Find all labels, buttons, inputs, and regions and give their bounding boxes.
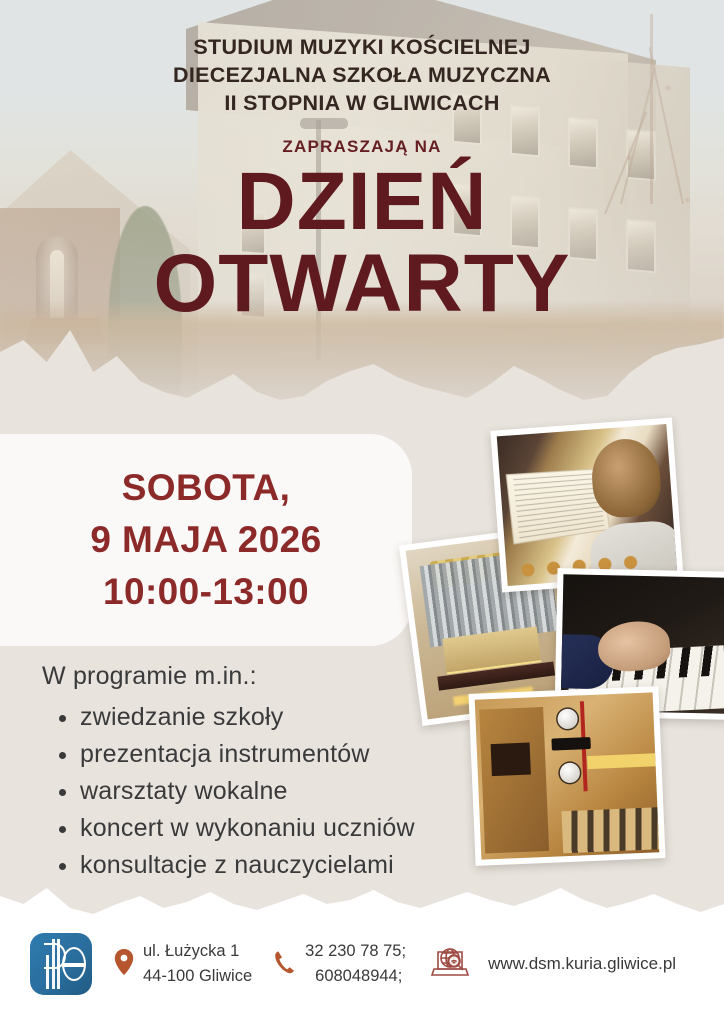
- program-block: W programie m.in.: zwiedzanie szkoły pre…: [42, 662, 415, 884]
- organ-stop-knob: [557, 708, 578, 729]
- student-head: [589, 437, 663, 520]
- event-title-line-2: OTWARTY: [0, 245, 724, 323]
- address-line-1: ul. Łużycka 1: [143, 939, 252, 964]
- organ-stop-knob: [559, 763, 580, 784]
- date-day-label: SOBOTA,: [82, 462, 291, 514]
- website-group[interactable]: www.dsm.kuria.gliwice.pl: [430, 943, 676, 986]
- website-url[interactable]: www.dsm.kuria.gliwice.pl: [488, 954, 676, 974]
- location-pin-icon: [114, 949, 134, 980]
- list-item: koncert w wykonaniu uczniów: [42, 810, 415, 847]
- list-item: warsztaty wokalne: [42, 773, 415, 810]
- footer-contact-bar: ul. Łużycka 1 44-100 Gliwice 32 230 78 7…: [0, 904, 724, 1024]
- phone-line-1: 32 230 78 75;: [305, 939, 406, 964]
- event-title-line-1: DZIEŃ: [237, 156, 488, 247]
- program-heading: W programie m.in.:: [42, 662, 415, 691]
- list-item: prezentacja instrumentów: [42, 736, 415, 773]
- phone-text: 32 230 78 75; 608048944;: [305, 939, 406, 989]
- organ-slot: [491, 742, 531, 776]
- org-line-3: II STOPNIA W GLIWICACH: [0, 90, 724, 118]
- program-list: zwiedzanie szkoły prezentacja instrument…: [42, 699, 415, 884]
- invitation-label: ZAPRASZAJĄ NA: [0, 137, 724, 157]
- organ-wood-panel: [479, 707, 549, 854]
- organ-yellow-bar: [588, 753, 656, 769]
- organ-console-student-photo: [490, 418, 683, 593]
- organ-keyboard: [561, 807, 659, 853]
- address-text: ul. Łużycka 1 44-100 Gliwice: [143, 939, 252, 989]
- time-range-label: 10:00-13:00: [63, 566, 309, 618]
- date-full-label: 9 MAJA 2026: [50, 514, 321, 566]
- org-line-1: STUDIUM MUZYKI KOŚCIELNEJ: [0, 34, 724, 62]
- address-line-2: 44-100 Gliwice: [143, 964, 252, 989]
- address-group: ul. Łużycka 1 44-100 Gliwice: [114, 939, 252, 989]
- phone-group: 32 230 78 75; 608048944;: [274, 939, 406, 989]
- organ-stops-pedals-photo: [468, 686, 665, 866]
- poster-root: STUDIUM MUZYKI KOŚCIELNEJ DIECEZJALNA SZ…: [0, 0, 724, 1024]
- phone-icon: [274, 950, 296, 979]
- date-time-card: SOBOTA, 9 MAJA 2026 10:00-13:00: [0, 434, 412, 646]
- list-item: zwiedzanie szkoły: [42, 699, 415, 736]
- website-laptop-globe-icon: [430, 943, 470, 986]
- event-title: DZIEŃ OTWARTY: [0, 163, 724, 323]
- organ-stop-label: [551, 737, 591, 751]
- phone-line-2: 608048944;: [305, 964, 406, 989]
- org-line-2: DIECEZJALNA SZKOŁA MUZYCZNA: [0, 62, 724, 90]
- photo-collage: [408, 418, 724, 870]
- header-text-block: STUDIUM MUZYKI KOŚCIELNEJ DIECEZJALNA SZ…: [0, 34, 724, 323]
- school-logo-icon: [30, 933, 92, 995]
